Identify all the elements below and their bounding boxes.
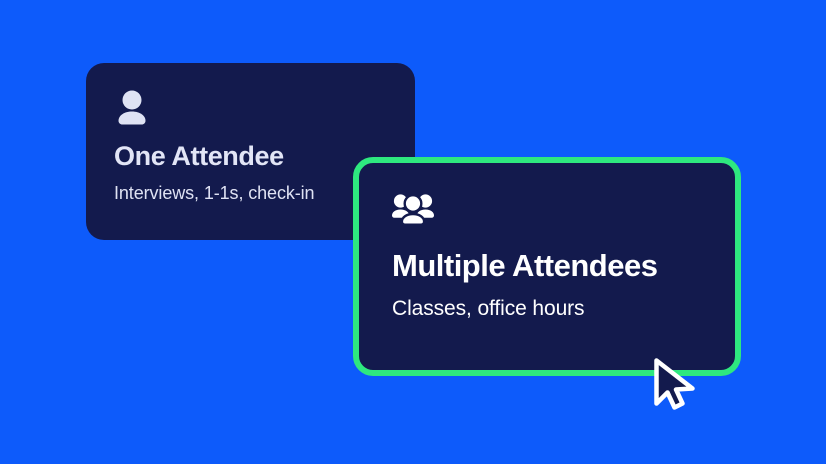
- card-multiple-attendees[interactable]: Multiple Attendees Classes, office hours: [353, 157, 741, 376]
- group-people-icon: [392, 191, 735, 231]
- single-person-icon: [114, 89, 415, 127]
- card-multiple-attendees-subtitle: Classes, office hours: [392, 297, 735, 321]
- attendee-type-selector: One Attendee Interviews, 1-1s, check-in …: [0, 0, 826, 464]
- mouse-pointer-arrow-icon: [648, 355, 710, 417]
- card-multiple-attendees-title: Multiple Attendees: [392, 248, 735, 284]
